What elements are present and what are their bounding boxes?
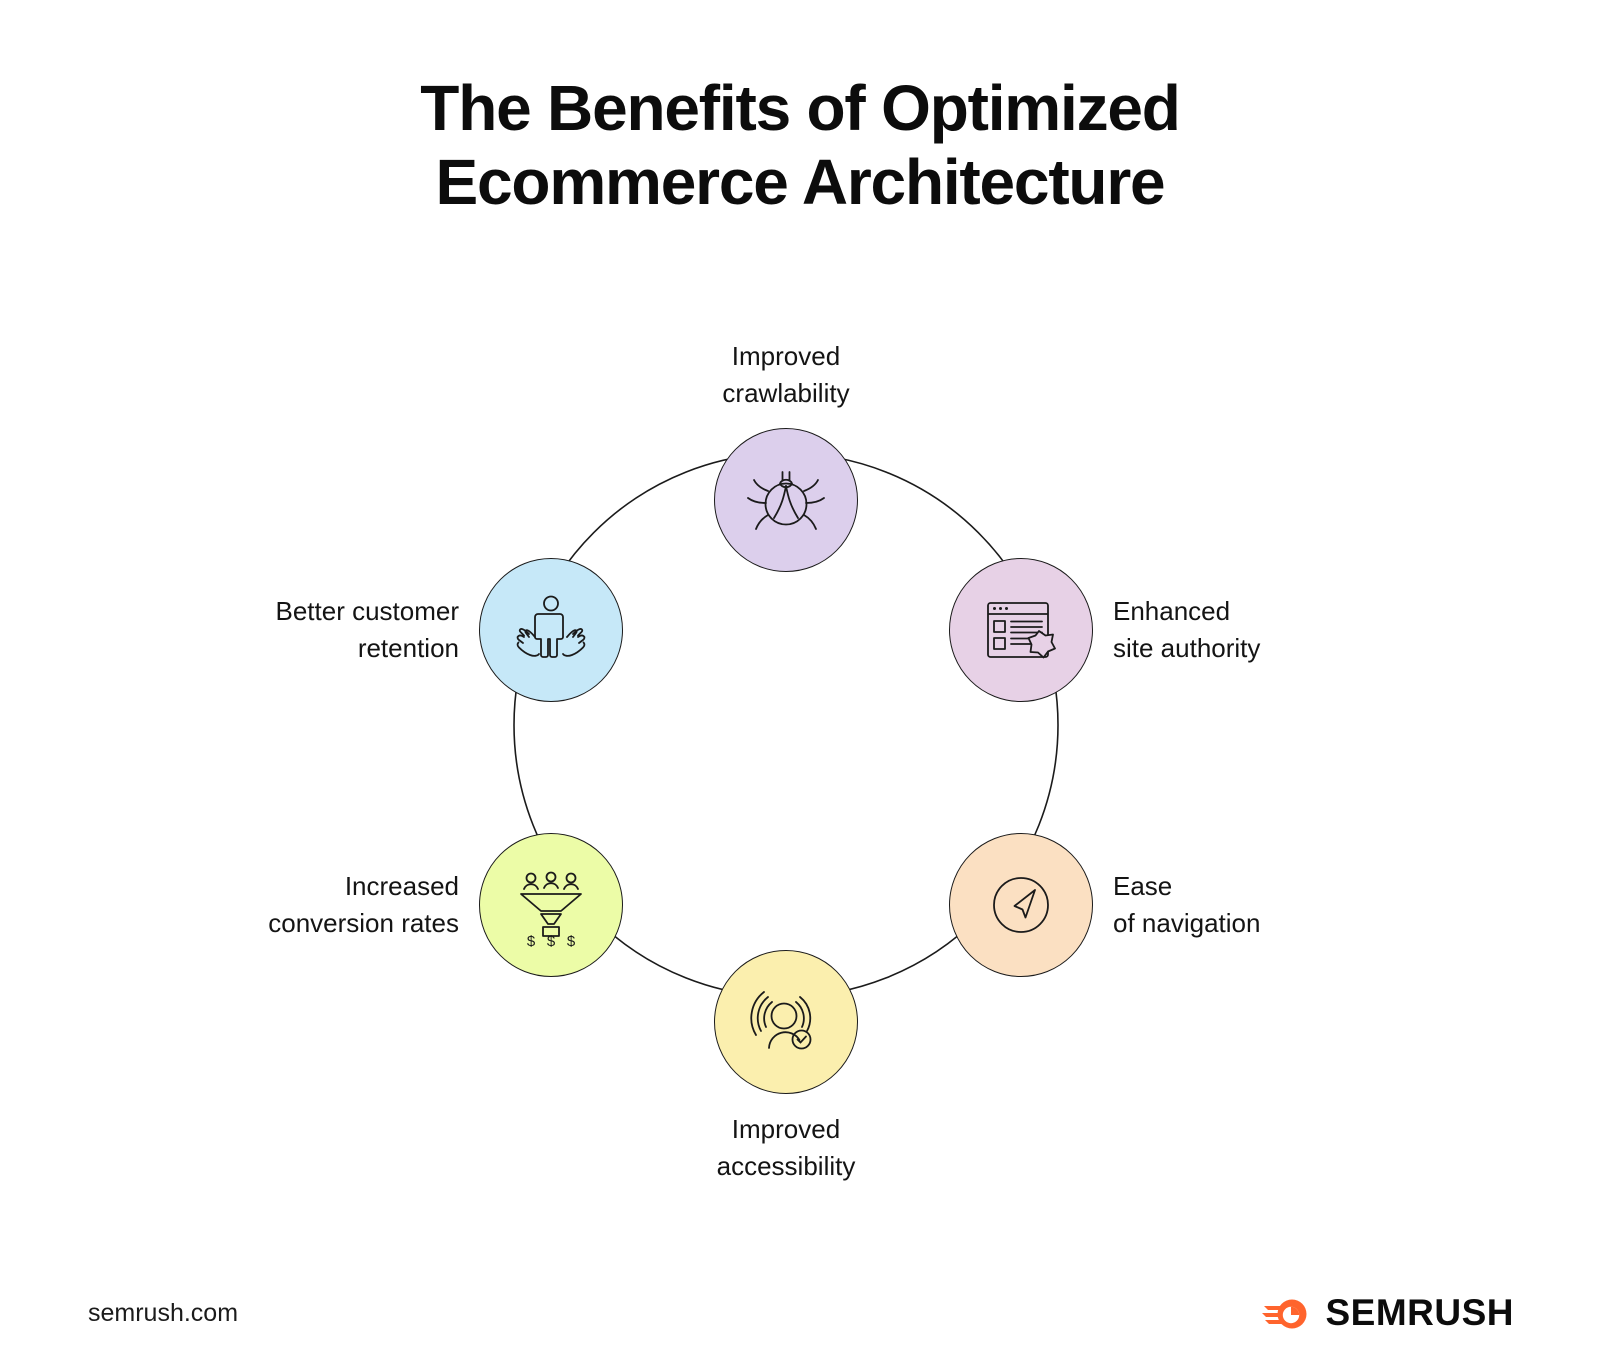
node-improved-crawlability[interactable] <box>714 428 858 572</box>
node-improved-accessibility[interactable] <box>714 950 858 1094</box>
label-increased-conversion-rates: Increased conversion rates <box>268 868 459 942</box>
browser-star-icon <box>979 588 1063 672</box>
conversion-funnel-icon: $ $ $ <box>509 863 593 947</box>
semrush-wordmark: SEMRUSH <box>1325 1292 1514 1334</box>
node-increased-conversion-rates[interactable]: $ $ $ <box>479 833 623 977</box>
customer-retention-icon <box>509 588 593 672</box>
source-url: semrush.com <box>88 1299 238 1328</box>
svg-text:$: $ <box>547 933 556 947</box>
page-title: The Benefits of Optimized Ecommerce Arch… <box>0 72 1600 219</box>
benefits-cycle-diagram: Improved crawlability Enhanced site auth… <box>0 300 1600 1220</box>
node-ease-of-navigation[interactable] <box>949 833 1093 977</box>
node-better-customer-retention[interactable] <box>479 558 623 702</box>
page-title-line-1: The Benefits of Optimized <box>420 72 1179 144</box>
label-better-customer-retention: Better customer retention <box>275 593 459 667</box>
label-ease-of-navigation: Ease of navigation <box>1113 868 1260 942</box>
svg-text:$: $ <box>567 933 576 947</box>
label-improved-crawlability: Improved crawlability <box>722 338 849 412</box>
node-enhanced-site-authority[interactable] <box>949 558 1093 702</box>
label-improved-accessibility: Improved accessibility <box>717 1111 856 1185</box>
bug-icon <box>744 458 828 542</box>
navigation-arrow-icon <box>979 863 1063 947</box>
svg-text:$: $ <box>527 933 536 947</box>
semrush-logo: SEMRUSH <box>1262 1292 1514 1334</box>
page-title-line-2: Ecommerce Architecture <box>0 146 1600 220</box>
semrush-mark-icon <box>1262 1296 1312 1330</box>
label-enhanced-site-authority: Enhanced site authority <box>1113 593 1260 667</box>
accessibility-icon <box>744 980 828 1064</box>
